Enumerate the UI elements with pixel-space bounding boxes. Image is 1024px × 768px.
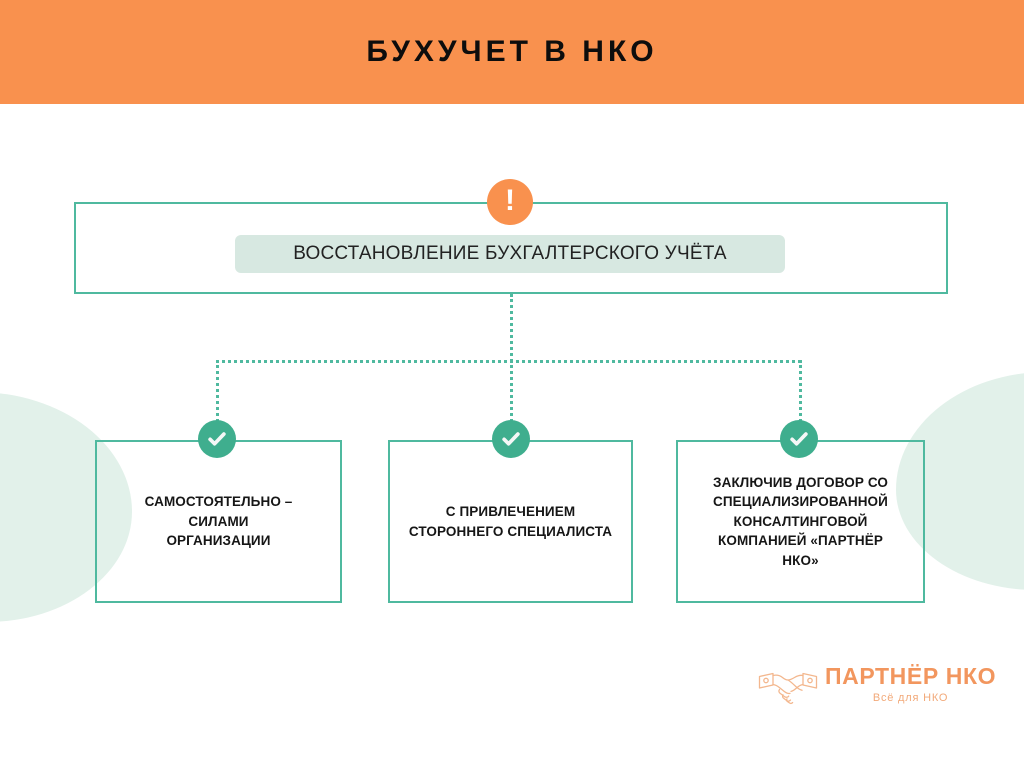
option-card-1[interactable]: САМОСТОЯТЕЛЬНО – СИЛАМИ ОРГАНИЗАЦИИ — [95, 440, 342, 603]
main-topic-pill: ВОССТАНОВЛЕНИЕ БУХГАЛТЕРСКОГО УЧЁТА — [235, 235, 785, 273]
logo-tagline: Всё для НКО — [873, 692, 948, 704]
slide-header: БУХУЧЕТ В НКО — [0, 0, 1024, 104]
slide-root: БУХУЧЕТ В НКО ВОССТАНОВЛЕНИЕ БУХГАЛТЕРСК… — [0, 0, 1024, 768]
connector-horizontal — [216, 360, 801, 363]
option-card-1-text: САМОСТОЯТЕЛЬНО – СИЛАМИ ОРГАНИЗАЦИИ — [145, 492, 293, 551]
connector-branch-1 — [216, 360, 219, 422]
logo-title: ПАРТНЁР НКО — [825, 664, 996, 688]
main-topic-label: ВОССТАНОВЛЕНИЕ БУХГАЛТЕРСКОГО УЧЁТА — [293, 243, 727, 265]
exclamation-icon: ! — [487, 179, 533, 225]
page-title: БУХУЧЕТ В НКО — [366, 35, 657, 69]
option-card-2-text: С ПРИВЛЕЧЕНИЕМ СТОРОННЕГО СПЕЦИАЛИСТА — [409, 502, 612, 541]
connector-stem-vertical — [510, 294, 513, 362]
brand-logo: ПАРТНЁР НКО Всё для НКО — [757, 664, 977, 720]
connector-branch-2 — [510, 360, 513, 422]
connector-branch-3 — [799, 360, 802, 422]
handshake-icon — [757, 668, 819, 708]
exclamation-glyph: ! — [505, 186, 515, 216]
option-card-3-text: ЗАКЛЮЧИВ ДОГОВОР СО СПЕЦИАЛИЗИРОВАННОЙ К… — [713, 473, 888, 571]
check-circle-icon-1 — [198, 420, 236, 458]
check-circle-icon-2 — [492, 420, 530, 458]
option-card-2[interactable]: С ПРИВЛЕЧЕНИЕМ СТОРОННЕГО СПЕЦИАЛИСТА — [388, 440, 633, 603]
option-card-3[interactable]: ЗАКЛЮЧИВ ДОГОВОР СО СПЕЦИАЛИЗИРОВАННОЙ К… — [676, 440, 925, 603]
logo-text-group: ПАРТНЁР НКО Всё для НКО — [825, 664, 996, 704]
check-circle-icon-3 — [780, 420, 818, 458]
